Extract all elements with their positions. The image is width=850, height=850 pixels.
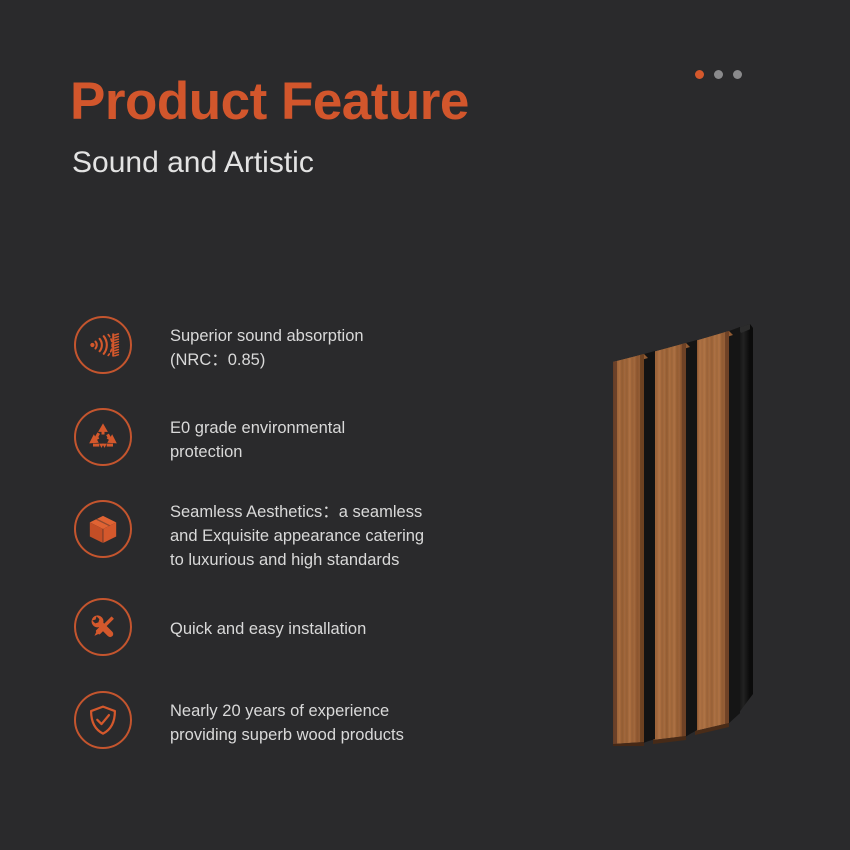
tools-wrench-screwdriver-icon — [74, 598, 132, 656]
feature-item-environmental: E0 grade environmental protection — [74, 408, 494, 466]
feature-label: Superior sound absorption (NRC：0.85) — [170, 316, 364, 372]
recycle-icon — [74, 408, 132, 466]
pagination-dot-1[interactable] — [695, 70, 704, 79]
pagination-dot-2[interactable] — [714, 70, 723, 79]
feature-label: Seamless Aesthetics：a seamless and Exqui… — [170, 500, 424, 572]
feature-item-experience: Nearly 20 years of experience providing … — [74, 691, 494, 749]
feature-item-seamless-aesthetics: Seamless Aesthetics：a seamless and Exqui… — [74, 500, 494, 572]
feature-list: Superior sound absorption (NRC：0.85) — [74, 316, 494, 749]
package-box-icon — [74, 500, 132, 558]
feature-item-installation: Quick and easy installation — [74, 598, 494, 656]
page-title: Product Feature — [70, 74, 469, 130]
page-subtitle: Sound and Artistic — [72, 146, 469, 179]
slide-product-feature: Product Feature Sound and Artistic — [0, 0, 850, 850]
feature-label: Nearly 20 years of experience providing … — [170, 691, 404, 747]
feature-label: E0 grade environmental protection — [170, 408, 345, 464]
pagination-dots — [695, 70, 742, 79]
header: Product Feature Sound and Artistic — [70, 74, 469, 179]
acoustic-slat-wood-panel — [596, 306, 766, 746]
sound-absorption-icon — [74, 316, 132, 374]
pagination-dot-3[interactable] — [733, 70, 742, 79]
feature-item-sound-absorption: Superior sound absorption (NRC：0.85) — [74, 316, 494, 374]
feature-label: Quick and easy installation — [170, 598, 366, 641]
shield-check-icon — [74, 691, 132, 749]
